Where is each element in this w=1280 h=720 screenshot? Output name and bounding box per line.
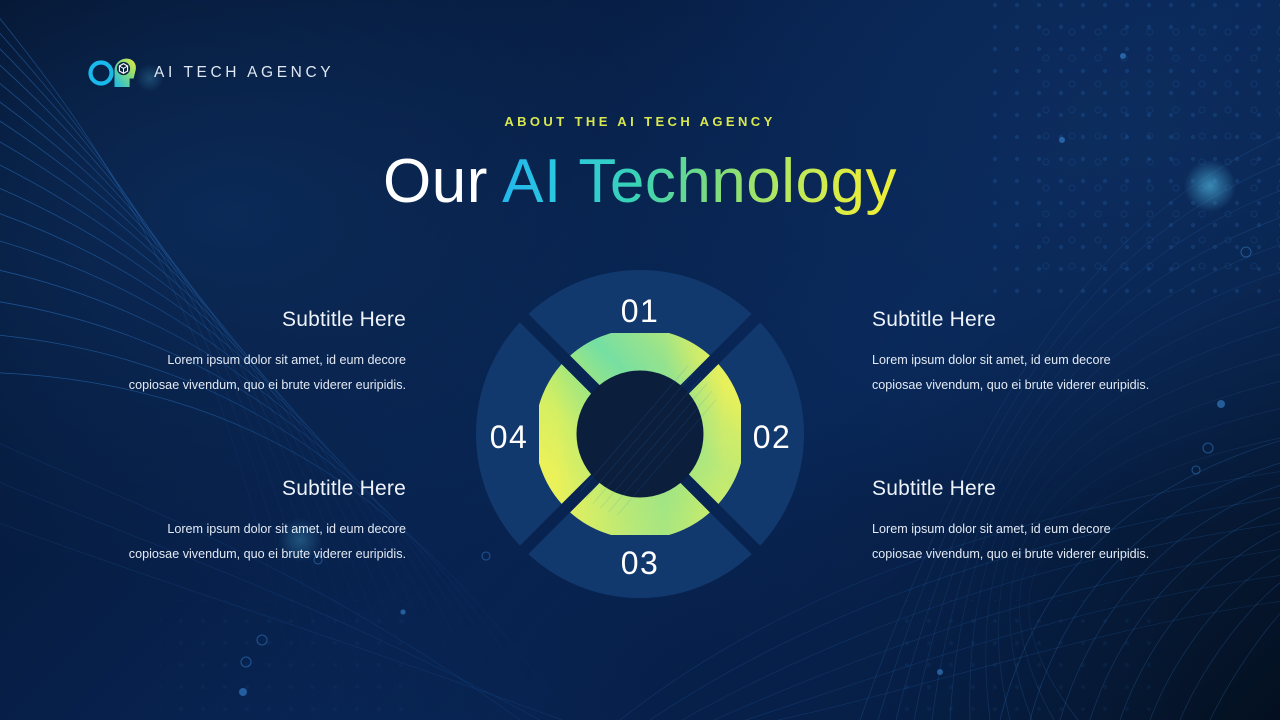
info-block-line2: copiosae vivendum, quo ei brute viderer … bbox=[88, 542, 406, 567]
info-block-line2: copiosae vivendum, quo ei brute viderer … bbox=[88, 373, 406, 398]
info-block-03: Subtitle Here Lorem ipsum dolor sit amet… bbox=[88, 477, 406, 567]
info-block-subtitle: Subtitle Here bbox=[88, 477, 406, 501]
donut-diagram: 01 02 03 04 bbox=[472, 266, 808, 602]
donut-segment-label-04[interactable]: 04 bbox=[474, 419, 544, 456]
donut-segment-label-01[interactable]: 01 bbox=[605, 293, 675, 330]
info-block-line1: Lorem ipsum dolor sit amet, id eum decor… bbox=[872, 348, 1190, 373]
info-block-subtitle: Subtitle Here bbox=[872, 308, 1190, 332]
info-block-04: Subtitle Here Lorem ipsum dolor sit amet… bbox=[872, 477, 1190, 567]
info-block-line2: copiosae vivendum, quo ei brute viderer … bbox=[872, 542, 1190, 567]
info-block-01: Subtitle Here Lorem ipsum dolor sit amet… bbox=[88, 308, 406, 398]
donut-segment-label-03[interactable]: 03 bbox=[605, 545, 675, 582]
eyebrow-label: ABOUT THE AI TECH AGENCY bbox=[0, 114, 1280, 129]
info-block-subtitle: Subtitle Here bbox=[872, 477, 1190, 501]
info-block-line1: Lorem ipsum dolor sit amet, id eum decor… bbox=[88, 348, 406, 373]
brand-logo[interactable]: AI TECH AGENCY bbox=[88, 56, 334, 90]
donut-segment-label-02[interactable]: 02 bbox=[737, 419, 807, 456]
info-block-line1: Lorem ipsum dolor sit amet, id eum decor… bbox=[88, 517, 406, 542]
donut-center-hole bbox=[577, 371, 704, 498]
info-block-line1: Lorem ipsum dolor sit amet, id eum decor… bbox=[872, 517, 1190, 542]
brand-name: AI TECH AGENCY bbox=[154, 64, 334, 82]
title-accent: AI Technology bbox=[502, 147, 897, 216]
page-title: Our AI Technology bbox=[0, 148, 1280, 216]
slide-canvas: AI TECH AGENCY ABOUT THE AI TECH AGENCY … bbox=[0, 0, 1280, 720]
ai-head-circle-logo-icon bbox=[88, 56, 138, 90]
info-block-02: Subtitle Here Lorem ipsum dolor sit amet… bbox=[872, 308, 1190, 398]
info-block-line2: copiosae vivendum, quo ei brute viderer … bbox=[872, 373, 1190, 398]
title-plain: Our bbox=[383, 147, 502, 216]
info-block-subtitle: Subtitle Here bbox=[88, 308, 406, 332]
